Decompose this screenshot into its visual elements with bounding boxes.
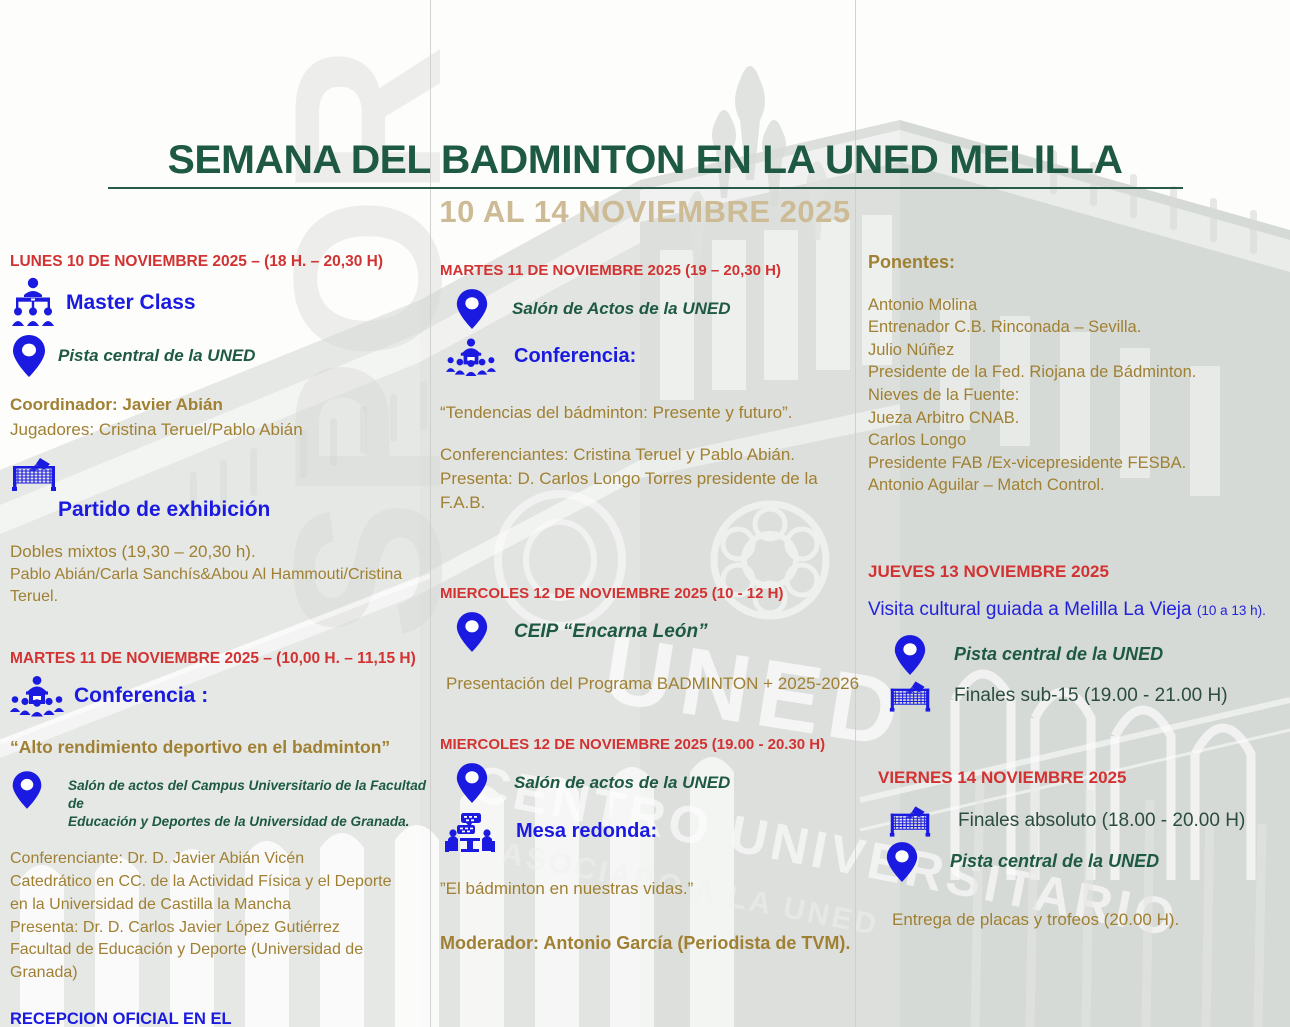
topic-tue-am: “Alto rendimiento deportivo en el badmin… xyxy=(10,735,435,760)
list-item: Antonio Molina xyxy=(868,294,1280,317)
location-pin-icon xyxy=(892,633,928,677)
column-right: Ponentes: Antonio Molina Entrenador C.B.… xyxy=(868,250,1280,932)
venue-row-wed-am: CEIP “Encarna León” xyxy=(454,610,860,654)
topic-wed-pm: ”El bádminton en nuestras vidas.” xyxy=(440,877,860,901)
list-item: Nieves de la Fuente: xyxy=(868,384,1280,407)
conference-row-tue-pm: Conferencia: xyxy=(446,337,860,377)
title-underline xyxy=(108,187,1183,189)
speakers-heading: Ponentes: xyxy=(868,250,1280,276)
masterclass-icon xyxy=(10,277,56,329)
venue-row-wed-pm: Salón de actos de la UNED xyxy=(454,761,860,805)
finals-friday: Finales absoluto (18.00 - 20.00 H) xyxy=(958,810,1245,832)
badminton-net-icon xyxy=(888,679,932,713)
venue-wed-pm: Salón de actos de la UNED xyxy=(514,772,730,794)
visit-label: Visita cultural guiada a Melilla La Viej… xyxy=(868,599,1192,620)
location-pin-icon xyxy=(454,287,490,331)
speakers-tue-pm: Conferenciantes: Cristina Teruel y Pablo… xyxy=(440,443,860,467)
venue-tue-am-line1: Salón de actos del Campus Universitario … xyxy=(68,777,435,812)
poster-subtitle: 10 AL 14 NOVIEMBRE 2025 xyxy=(0,194,1290,230)
visit-thursday: Visita cultural guiada a Melilla La Viej… xyxy=(868,598,1280,623)
date-tuesday-11-morning: MARTES 11 DE NOVIEMBRE 2025 – (10,00 H. … xyxy=(10,649,435,668)
venue-thursday: Pista central de la UNED xyxy=(954,643,1163,666)
location-pin-icon xyxy=(10,333,48,379)
location-pin-icon xyxy=(10,769,44,811)
date-monday-10: LUNES 10 DE NOVIEMBRE 2025 – (18 H. – 20… xyxy=(10,252,435,271)
page-title: SEMANA DEL BADMINTON EN LA UNED MELILLA xyxy=(168,140,1123,180)
column-middle: MARTES 11 DE NOVIEMBRE 2025 (19 – 20,30 … xyxy=(440,252,860,957)
venue-friday: Pista central de la UNED xyxy=(950,850,1159,873)
date-wednesday-12-morning: MIERCOLES 12 DE NOVIEMBRE 2025 (10 - 12 … xyxy=(440,585,860,604)
date-friday-14: VIERNES 14 NOVIEMBRE 2025 xyxy=(878,767,1280,788)
speaker-tue-am-1: Conferenciante: Dr. D. Javier Abián Vicé… xyxy=(10,848,435,871)
players-monday: Jugadores: Cristina Teruel/Pablo Abián xyxy=(10,418,435,442)
date-tuesday-11-evening: MARTES 11 DE NOVIEMBRE 2025 (19 – 20,30 … xyxy=(440,262,860,281)
awards-friday: Entrega de placas y trofeos (20.00 H). xyxy=(892,908,1280,932)
venue-tue-pm: Salón de Actos de la UNED xyxy=(512,298,731,320)
conference-row-tuesday-morning: Conferencia : xyxy=(10,675,435,717)
location-pin-icon xyxy=(884,840,920,884)
reception-line1: RECEPCION OFICIAL EN EL xyxy=(10,1009,435,1027)
activity-exhibition-match: Partido de exhibición xyxy=(58,498,435,522)
activity-mesa-redonda: Mesa redonda: xyxy=(516,820,657,843)
venue-monday: Pista central de la UNED xyxy=(58,345,255,367)
poster-root: SPOR UNED CENTRO UNIVERSITARIO ASOCIADO … xyxy=(0,0,1290,1027)
list-item: Presidente FAB /Ex-vicepresidente FESBA. xyxy=(868,452,1280,475)
coordinator-monday: Coordinador: Javier Abián xyxy=(10,393,435,417)
badminton-net-icon xyxy=(888,804,932,838)
match-detail-line1: Dobles mixtos (19,30 – 20,30 h). xyxy=(10,540,435,564)
speaker-tue-am-3: en la Universidad de Castilla la Mancha xyxy=(10,894,435,917)
column-left: LUNES 10 DE NOVIEMBRE 2025 – (18 H. – 20… xyxy=(10,252,435,1027)
presenter-tue-am-1: Presenta: Dr. D. Carlos Javier López Gut… xyxy=(10,917,435,940)
finals-row-friday: Finales absoluto (18.00 - 20.00 H) xyxy=(888,804,1280,838)
visit-time: (10 a 13 h). xyxy=(1197,603,1266,618)
venue-row-thursday: Pista central de la UNED xyxy=(892,633,1280,677)
date-wednesday-12-evening: MIERCOLES 12 DE NOVIEMBRE 2025 (19.00 - … xyxy=(440,736,860,755)
venue-row-monday: Pista central de la UNED xyxy=(10,333,435,379)
masterclass-row: Master Class xyxy=(10,277,435,329)
speaker-tue-am-2: Catedrático en CC. de la Actividad Físic… xyxy=(10,871,435,894)
activity-master-class: Master Class xyxy=(66,291,196,315)
date-thursday-13: JUEVES 13 NOVIEMBRE 2025 xyxy=(868,561,1280,582)
location-pin-icon xyxy=(454,761,490,805)
match-detail-line2: Pablo Abián/Carla Sanchís&Abou Al Hammou… xyxy=(10,564,435,609)
venue-row-friday: Pista central de la UNED xyxy=(884,840,1280,884)
venue-wed-am: CEIP “Encarna León” xyxy=(514,620,708,645)
finals-thursday: Finales sub-15 (19.00 - 21.00 H) xyxy=(954,685,1228,707)
presenter-tue-pm: Presenta: D. Carlos Longo Torres preside… xyxy=(440,467,860,515)
location-pin-icon xyxy=(454,610,490,654)
list-item: Antonio Aguilar – Match Control. xyxy=(868,474,1280,497)
moderator-wed-pm: Moderador: Antonio García (Periodista de… xyxy=(440,931,860,957)
conference-podium-icon xyxy=(10,675,64,717)
topic-tue-pm: “Tendencias del bádminton: Presente y fu… xyxy=(440,401,860,425)
detail-wed-am: Presentación del Programa BADMINTON + 20… xyxy=(446,672,860,696)
list-item: Presidente de la Fed. Riojana de Bádmint… xyxy=(868,361,1280,384)
list-item: Jueza Arbitro CNAB. xyxy=(868,407,1280,430)
activity-conferencia-tue-am: Conferencia : xyxy=(74,684,208,708)
activity-conferencia-tue-pm: Conferencia: xyxy=(514,345,636,368)
venue-row-tue-am: Salón de actos del Campus Universitario … xyxy=(10,769,435,830)
roundtable-row: Mesa redonda: xyxy=(444,811,860,853)
list-item: Julio Núñez xyxy=(868,339,1280,362)
speakers-list: Antonio Molina Entrenador C.B. Rinconada… xyxy=(868,294,1280,497)
list-item: Carlos Longo xyxy=(868,429,1280,452)
badminton-net-icon xyxy=(10,456,58,492)
poster-content: SEMANA DEL BADMINTON EN LA UNED MELILLA … xyxy=(0,0,1290,1027)
presenter-tue-am-2: Facultad de Educación y Deporte (Univers… xyxy=(10,939,435,984)
poster-header: SEMANA DEL BADMINTON EN LA UNED MELILLA … xyxy=(0,140,1290,230)
conference-podium-icon xyxy=(446,337,496,377)
venue-row-tue-pm: Salón de Actos de la UNED xyxy=(454,287,860,331)
list-item: Entrenador C.B. Rinconada – Sevilla. xyxy=(868,316,1280,339)
venue-tue-am-line2: Educación y Deportes de la Universidad d… xyxy=(68,813,435,831)
round-table-icon xyxy=(444,811,496,853)
finals-row-thursday: Finales sub-15 (19.00 - 21.00 H) xyxy=(888,679,1280,713)
